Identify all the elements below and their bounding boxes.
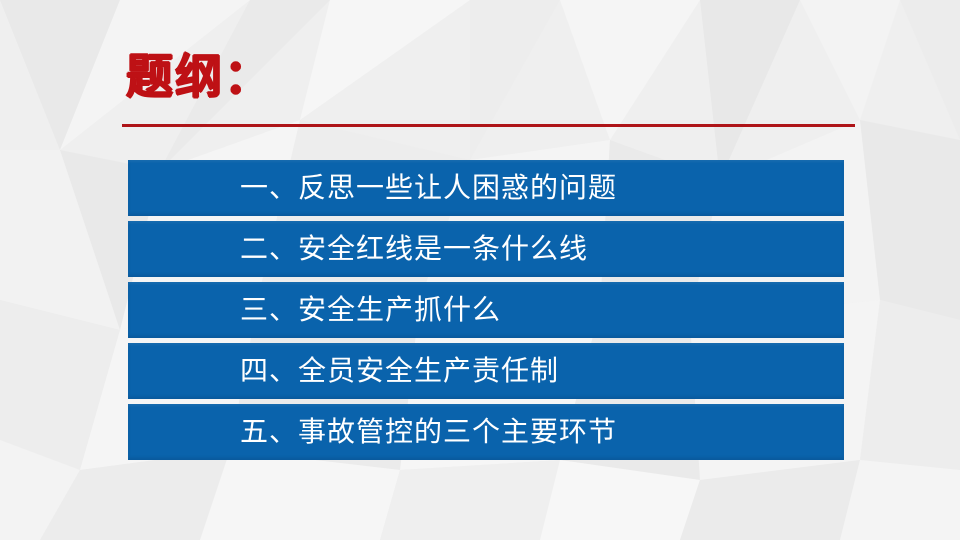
page-title: 题纲： — [126, 52, 273, 104]
outline-item-label: 四、全员安全生产责任制 — [128, 357, 559, 385]
outline-item-2[interactable]: 二、安全红线是一条什么线 — [128, 221, 844, 277]
outline-item-3[interactable]: 三、安全生产抓什么 — [128, 282, 844, 338]
outline-item-label: 一、反思一些让人困惑的问题 — [128, 174, 617, 202]
outline-item-label: 二、安全红线是一条什么线 — [128, 235, 588, 263]
outline-list: 一、反思一些让人困惑的问题 二、安全红线是一条什么线 三、安全生产抓什么 四、全… — [128, 160, 844, 460]
title-underline-rule — [122, 124, 855, 127]
outline-item-4[interactable]: 四、全员安全生产责任制 — [128, 343, 844, 399]
presentation-slide: 题纲： 一、反思一些让人困惑的问题 二、安全红线是一条什么线 三、安全生产抓什么… — [0, 0, 960, 540]
outline-item-label: 五、事故管控的三个主要环节 — [128, 418, 617, 446]
outline-item-5[interactable]: 五、事故管控的三个主要环节 — [128, 404, 844, 460]
outline-item-label: 三、安全生产抓什么 — [128, 296, 501, 324]
outline-item-1[interactable]: 一、反思一些让人困惑的问题 — [128, 160, 844, 216]
